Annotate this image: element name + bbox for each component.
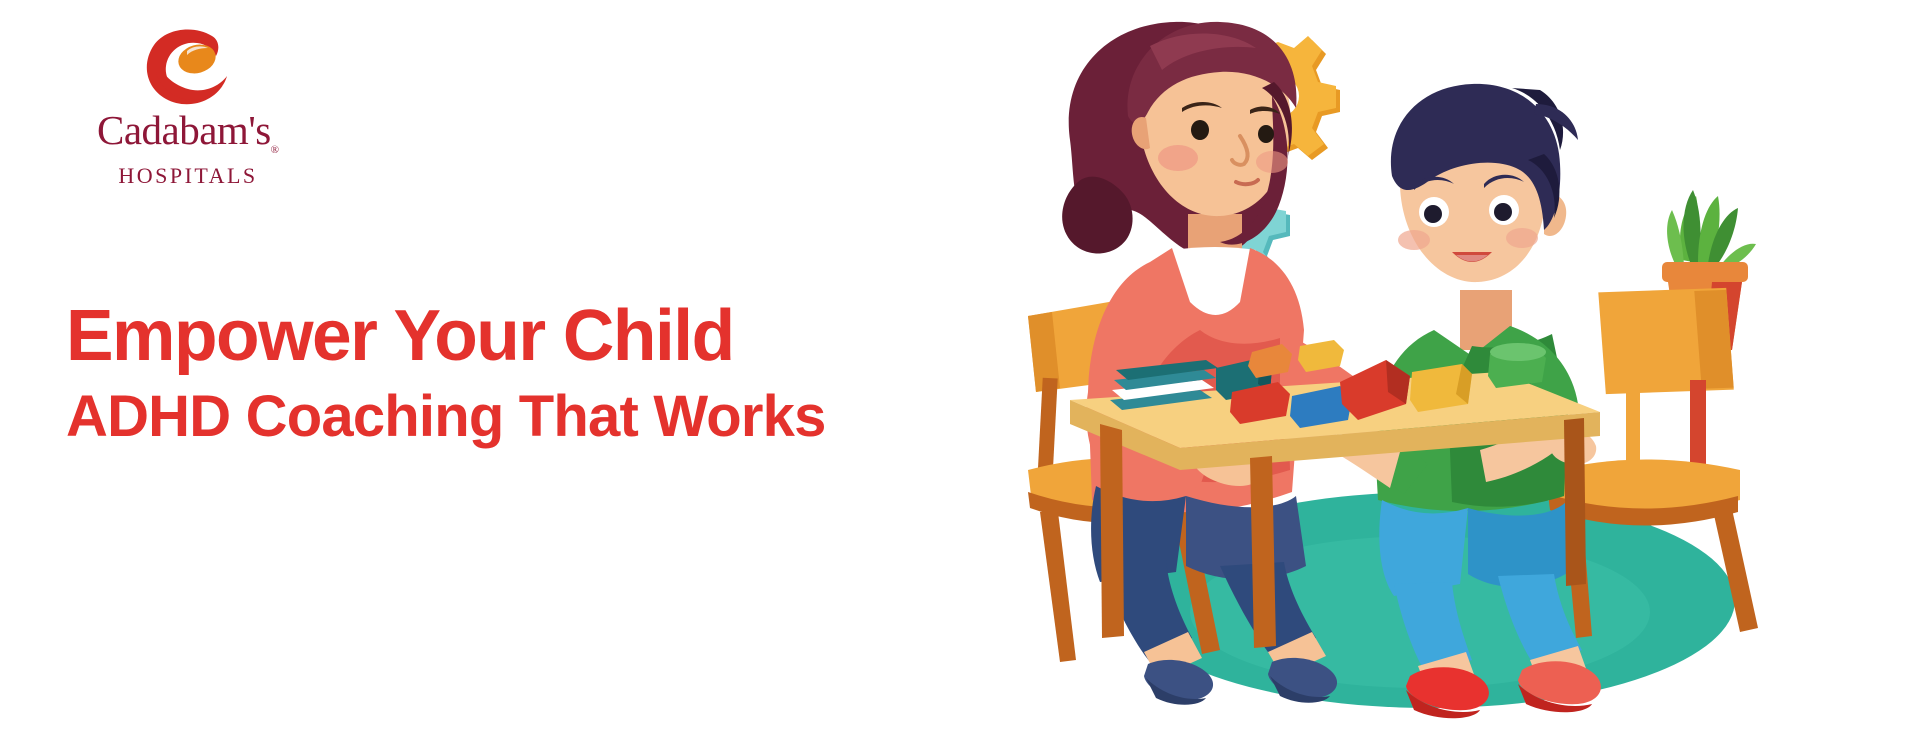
logo-wordmark-text: Cadabam: [97, 107, 248, 153]
hero-banner: Cadabam's® HOSPITALS Empower Your Child …: [0, 0, 1920, 750]
logo-wordmark-apostrophe: 's: [248, 107, 270, 153]
logo-subtitle: HOSPITALS: [118, 163, 257, 189]
hero-illustration: [900, 0, 1920, 750]
registered-trademark-icon: ®: [271, 144, 279, 156]
headline-line-1: Empower Your Child: [66, 300, 937, 373]
cadabams-c-swoosh-logo-icon: [142, 28, 234, 106]
headline-line-2: ADHD Coaching That Works: [66, 387, 946, 448]
cadabams-hospitals-logo[interactable]: Cadabam's® HOSPITALS: [88, 28, 288, 198]
hero-headline: Empower Your Child ADHD Coaching That Wo…: [66, 300, 946, 448]
logo-wordmark: Cadabam's®: [97, 110, 279, 156]
